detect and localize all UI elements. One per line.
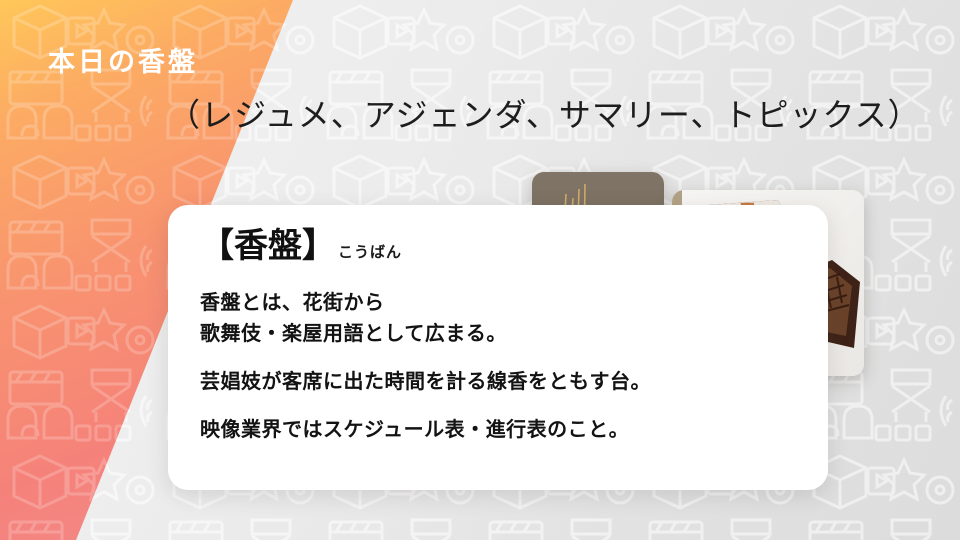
definition-card: 【香盤】 こうばん 香盤とは、花街から 歌舞伎・楽屋用語として広まる。 芸娼妓が…: [168, 205, 828, 490]
definition-line: 芸娼妓が客席に出た時間を計る線香をともす台。: [200, 367, 804, 398]
headword-row: 【香盤】 こうばん: [200, 227, 804, 266]
headword-reading: こうばん: [338, 241, 402, 262]
definition-paragraph-3: 映像業界ではスケジュール表・進行表のこと。: [200, 415, 804, 446]
definition-line: 歌舞伎・楽屋用語として広まる。: [200, 319, 804, 350]
page-title: 本日の香盤: [48, 48, 198, 78]
definition-card-content: 【香盤】 こうばん 香盤とは、花街から 歌舞伎・楽屋用語として広まる。 芸娼妓が…: [200, 227, 804, 446]
definition-paragraph-1: 香盤とは、花街から 歌舞伎・楽屋用語として広まる。: [200, 288, 804, 350]
headword: 【香盤】: [200, 227, 336, 266]
definition-paragraph-2: 芸娼妓が客席に出た時間を計る線香をともす台。: [200, 367, 804, 398]
page-subtitle: （レジュメ、アジェンダ、サマリー、トピックス）: [168, 95, 921, 135]
slide-root: 本日の香盤 （レジュメ、アジェンダ、サマリー、トピックス）: [0, 0, 960, 540]
definition-line: 映像業界ではスケジュール表・進行表のこと。: [200, 415, 804, 446]
definition-line: 香盤とは、花街から: [200, 288, 804, 319]
